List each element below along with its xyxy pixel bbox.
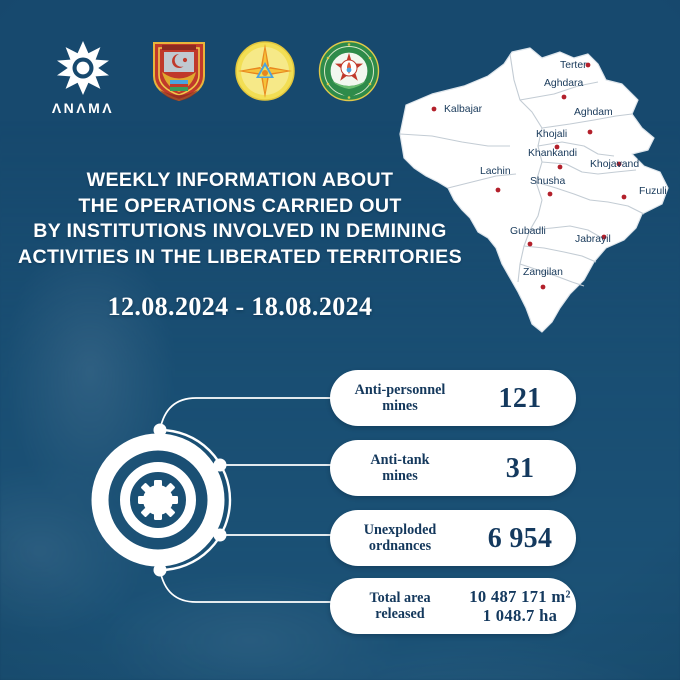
stat-label-line2: released (375, 606, 424, 622)
map-label-aghdam: Aghdam (574, 107, 613, 118)
stat-label-line1: Anti-personnel (355, 382, 446, 398)
demining-hub-icon (100, 442, 216, 558)
map-label-terter: Terter (560, 60, 587, 71)
map-label-aghdara: Aghdara (544, 78, 584, 89)
map-label-jabrayil: Jabrayil (575, 234, 611, 245)
stat-label-line2: ordnances (369, 538, 431, 554)
map-label-kalbajar: Kalbajar (444, 104, 483, 115)
organization-emblems: ΛNΛMΛ (42, 40, 376, 116)
stat-value: 10 487 171 m² 1 048.7 ha (464, 587, 576, 625)
anama-logo: ΛNΛMΛ (42, 40, 124, 116)
stat-pill-unexploded-ordnances[interactable]: Unexploded ordnances 6 954 (330, 510, 576, 566)
title-line-4: ACTIVITIES IN THE LIBERATED TERRITORIES (14, 245, 466, 271)
stat-label: Total area released (330, 590, 464, 623)
defense-shield-icon (150, 40, 208, 102)
ministry-of-defense-emblem (150, 40, 208, 102)
anama-star-icon (53, 40, 113, 96)
map-label-gubadli: Gubadli (510, 226, 546, 237)
stat-label: Anti-tank mines (330, 452, 464, 485)
emergency-starburst-icon (234, 40, 296, 102)
page-title: WEEKLY INFORMATION ABOUT THE OPERATIONS … (14, 168, 466, 270)
stat-label-line1: Total area (369, 590, 430, 606)
anama-wordmark: ΛNΛMΛ (52, 100, 114, 116)
map-label-lachin: Lachin (480, 166, 511, 177)
title-line-2: THE OPERATIONS CARRIED OUT (14, 194, 466, 220)
map-label-zangilan: Zangilan (523, 267, 563, 278)
map-label-khankandi: Khankandi (528, 148, 577, 159)
stat-value: 6 954 (464, 524, 576, 553)
stat-label-line1: Unexploded (364, 522, 437, 538)
stat-value: 121 (464, 384, 576, 413)
connector-line-4 (160, 570, 336, 602)
stat-pill-anti-tank-mines[interactable]: Anti-tank mines 31 (330, 440, 576, 496)
stat-label-line2: mines (382, 468, 417, 484)
title-line-1: WEEKLY INFORMATION ABOUT (14, 168, 466, 194)
stat-value: 31 (464, 454, 576, 483)
border-service-seal-icon (318, 40, 380, 102)
stat-pill-total-area-released[interactable]: Total area released 10 487 171 m² 1 048.… (330, 578, 576, 634)
stat-pill-anti-personnel-mines[interactable]: Anti-personnel mines 121 (330, 370, 576, 426)
connector-line-1 (160, 398, 336, 430)
map-label-shusha: Shusha (530, 176, 565, 187)
stat-label: Anti-personnel mines (330, 382, 464, 415)
stat-value-ha: 1 048.7 ha (464, 606, 576, 625)
map-label-khojali: Khojali (536, 129, 567, 140)
stat-value-sqm: 10 487 171 m² (464, 587, 576, 606)
title-line-3: BY INSTITUTIONS INVOLVED IN DEMINING (14, 219, 466, 245)
map-label-khojavand: Khojavand (590, 159, 639, 170)
state-border-service-emblem (318, 40, 376, 102)
gear-icon (138, 480, 178, 520)
date-range: 12.08.2024 - 18.08.2024 (14, 292, 466, 322)
stat-label: Unexploded ordnances (330, 522, 464, 555)
stat-label-line2: mines (382, 398, 417, 414)
map-label-fuzuli: Fuzuli (639, 186, 667, 197)
emergency-situations-emblem (234, 40, 292, 102)
stat-label-line1: Anti-tank (370, 452, 429, 468)
